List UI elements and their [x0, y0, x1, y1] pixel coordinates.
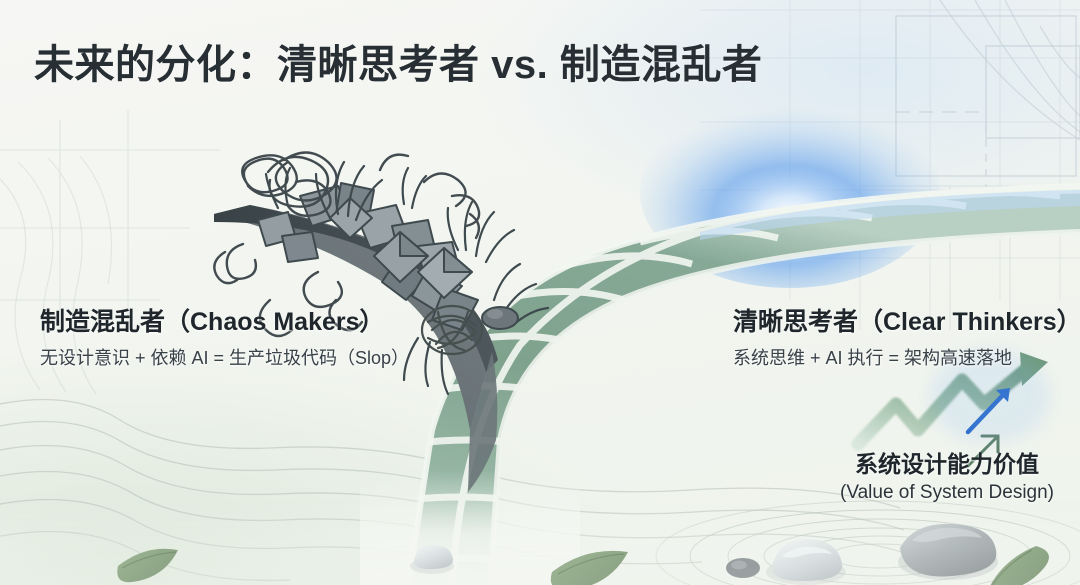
clear-thinkers-subtitle: 系统思维 + AI 执行 = 架构高速落地	[733, 345, 1080, 371]
chaos-makers-caption: 制造混乱者（Chaos Makers） 无设计意识 + 依赖 AI = 生产垃圾…	[40, 306, 409, 371]
value-of-system-design-note: 系统设计能力价值 (Value of System Design)	[840, 450, 1054, 505]
chaos-makers-subtitle: 无设计意识 + 依赖 AI = 生产垃圾代码（Slop）	[40, 345, 409, 371]
value-note-cn: 系统设计能力价值	[840, 450, 1054, 479]
rubble-stone-icon	[482, 307, 518, 329]
page-title: 未来的分化：清晰思考者 vs. 制造混乱者	[34, 32, 762, 90]
clear-thinkers-heading: 清晰思考者（Clear Thinkers）	[733, 306, 1080, 339]
clear-thinkers-caption: 清晰思考者（Clear Thinkers） 系统思维 + AI 执行 = 架构高…	[733, 306, 1080, 371]
chaos-makers-heading: 制造混乱者（Chaos Makers）	[40, 306, 409, 339]
slide-root: 未来的分化：清晰思考者 vs. 制造混乱者 制造混乱者（Chaos Makers…	[0, 0, 1080, 585]
value-note-en: (Value of System Design)	[840, 481, 1054, 506]
